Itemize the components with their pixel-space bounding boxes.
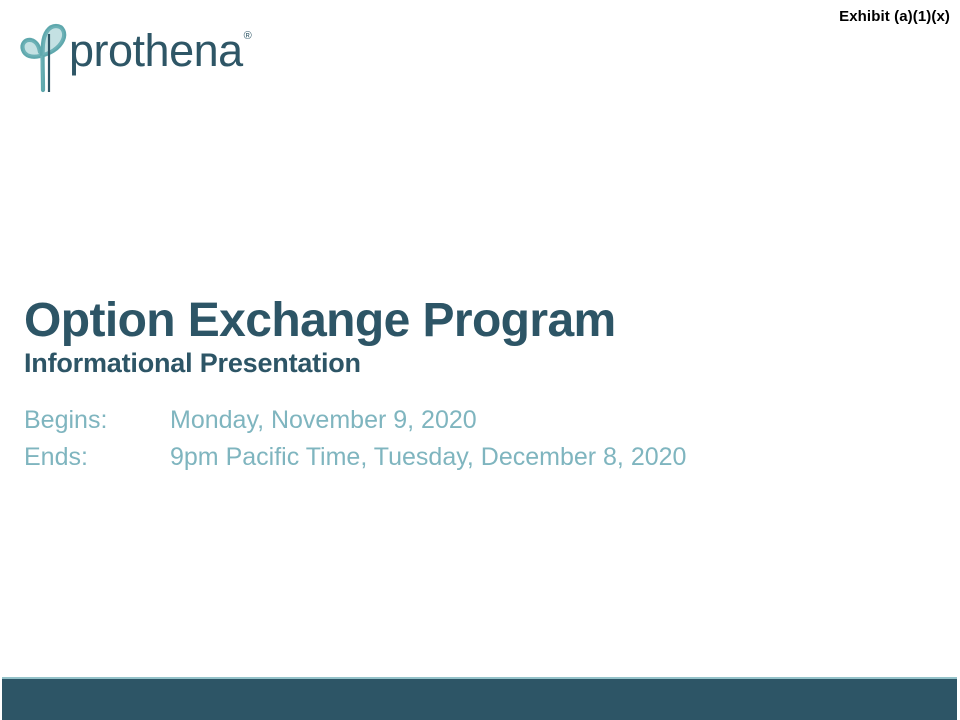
prothena-logo: prothena® bbox=[13, 20, 243, 96]
date-block: Begins: Monday, November 9, 2020 Ends: 9… bbox=[24, 402, 924, 476]
ends-label: Ends: bbox=[24, 439, 170, 476]
registered-trademark-icon: ® bbox=[244, 30, 252, 42]
wordmark-text: prothena bbox=[69, 25, 243, 76]
presentation-slide: Exhibit (a)(1)(x) prothena® Option Excha… bbox=[0, 0, 960, 720]
page-subtitle: Informational Presentation bbox=[24, 349, 924, 379]
begins-value: Monday, November 9, 2020 bbox=[170, 402, 924, 439]
begins-label: Begins: bbox=[24, 402, 170, 439]
prothena-butterfly-mark-icon bbox=[13, 20, 75, 96]
ends-value: 9pm Pacific Time, Tuesday, December 8, 2… bbox=[170, 439, 924, 476]
exhibit-label: Exhibit (a)(1)(x) bbox=[839, 8, 950, 25]
date-row-ends: Ends: 9pm Pacific Time, Tuesday, Decembe… bbox=[24, 439, 924, 476]
footer-bar bbox=[2, 677, 957, 720]
page-title: Option Exchange Program bbox=[24, 296, 924, 347]
date-row-begins: Begins: Monday, November 9, 2020 bbox=[24, 402, 924, 439]
prothena-wordmark: prothena® bbox=[69, 28, 250, 73]
title-block: Option Exchange Program Informational Pr… bbox=[24, 296, 924, 379]
